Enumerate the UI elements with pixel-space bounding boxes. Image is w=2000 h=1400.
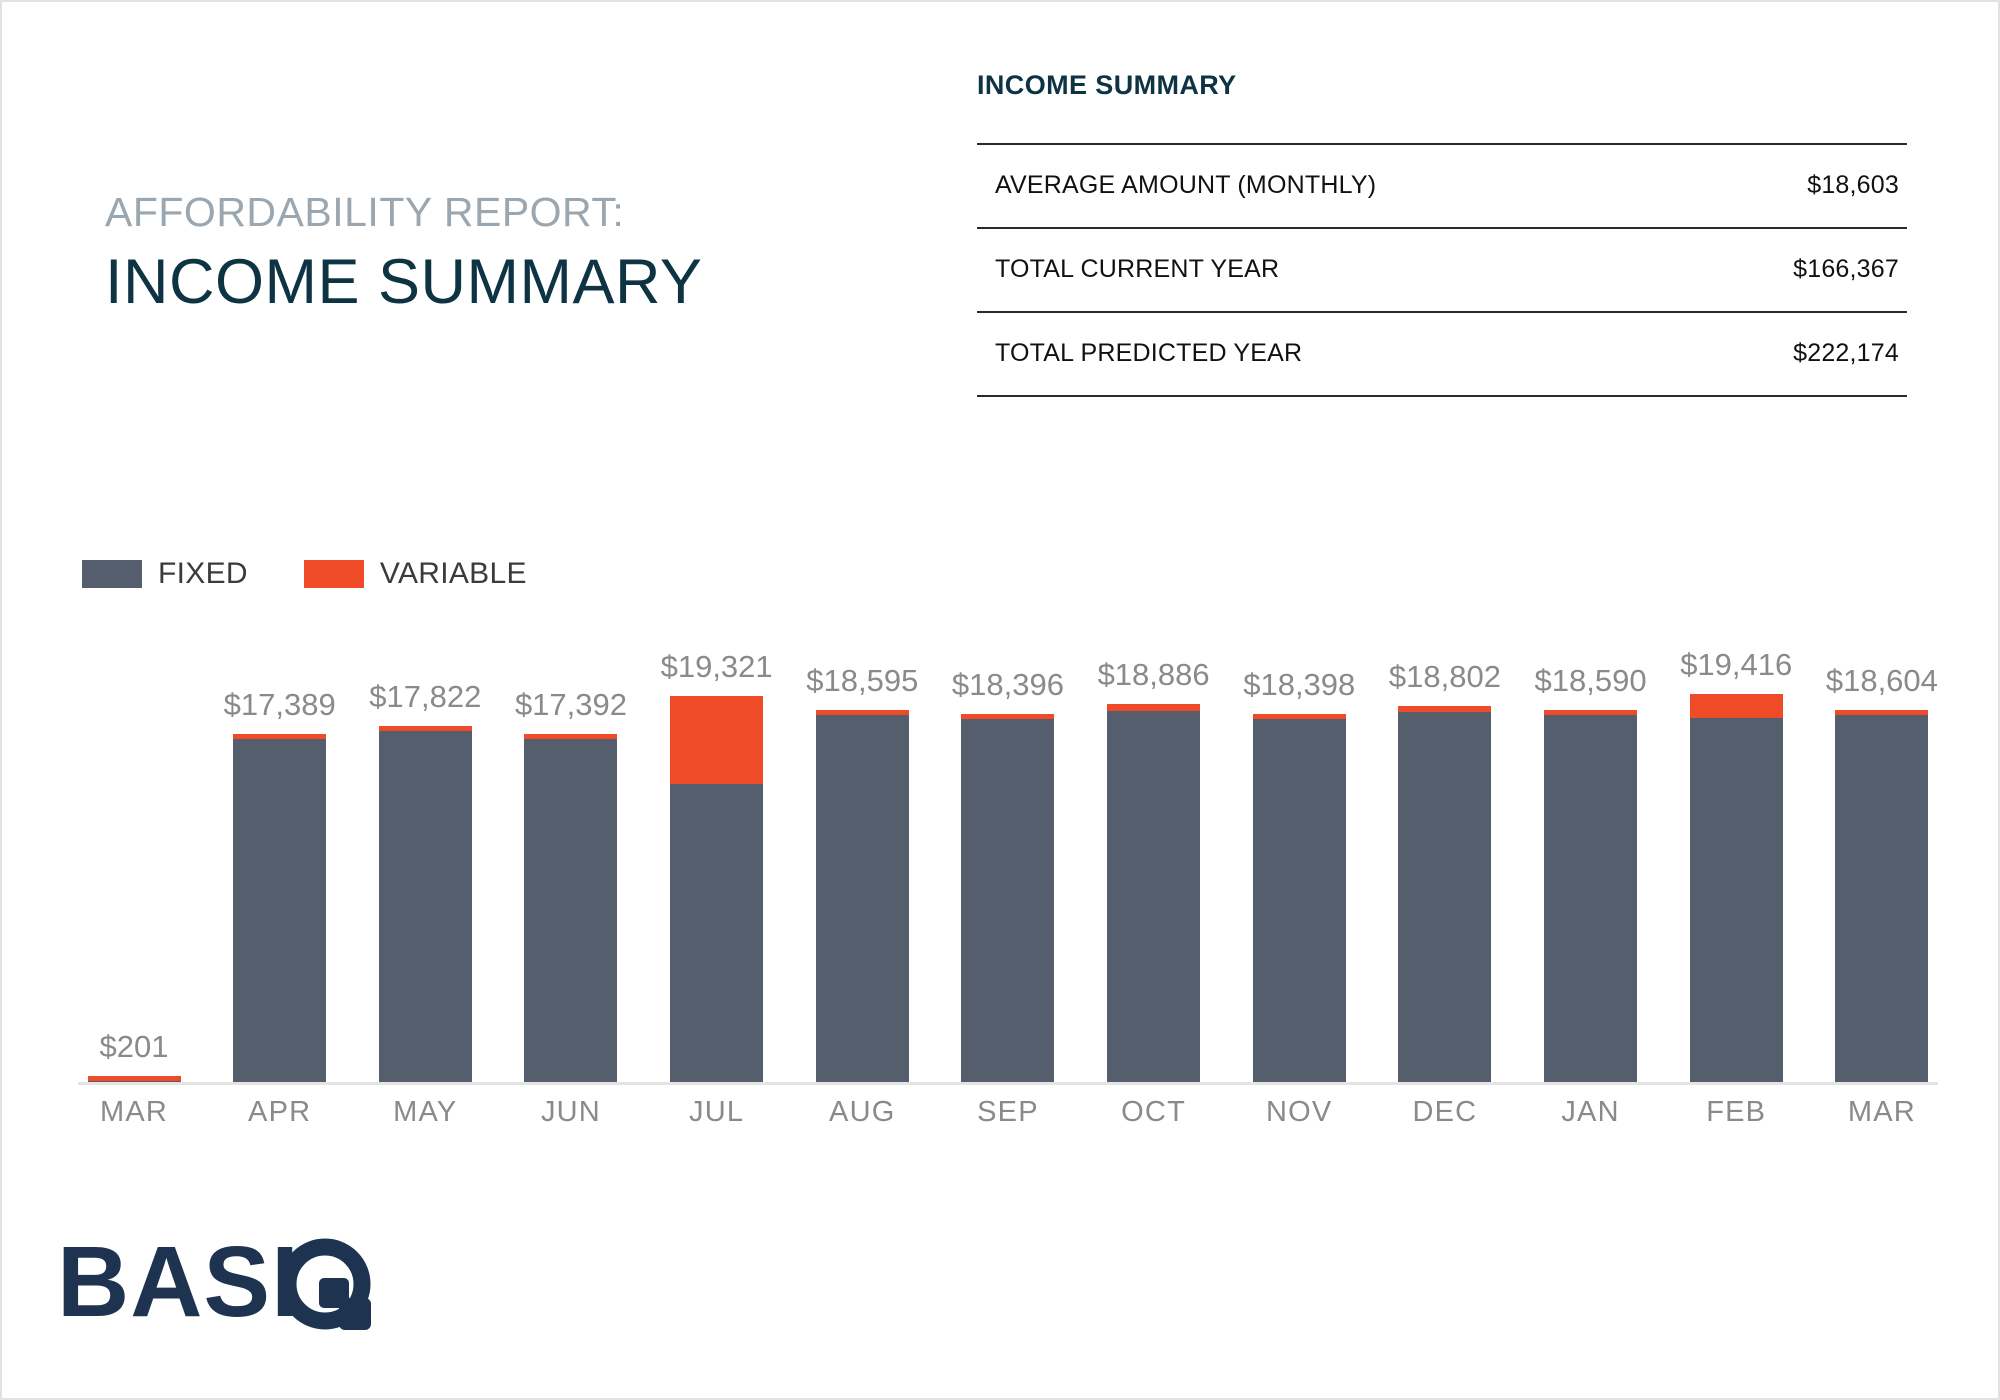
chart-column: $17,389 bbox=[224, 632, 336, 1082]
bar-value-label: $17,392 bbox=[466, 689, 676, 720]
chart-column: $17,392 bbox=[515, 632, 627, 1082]
x-axis-label: JUL bbox=[661, 1096, 773, 1129]
bar-segment-variable bbox=[1107, 704, 1200, 711]
summary-row-label: TOTAL CURRENT YEAR bbox=[977, 228, 1679, 312]
stacked-bar[interactable] bbox=[1253, 714, 1346, 1082]
x-axis-label: AUG bbox=[806, 1096, 918, 1129]
income-bar-chart: $201$17,389$17,822$17,392$19,321$18,595$… bbox=[78, 632, 1938, 1082]
fixed-swatch-icon bbox=[82, 560, 142, 588]
legend-label-fixed: FIXED bbox=[158, 557, 248, 591]
stacked-bar[interactable] bbox=[524, 734, 617, 1082]
stacked-bar[interactable] bbox=[1544, 710, 1637, 1082]
stacked-bar[interactable] bbox=[961, 714, 1054, 1082]
chart-column: $18,398 bbox=[1243, 632, 1355, 1082]
stacked-bar[interactable] bbox=[816, 710, 909, 1082]
summary-row: TOTAL CURRENT YEAR$166,367 bbox=[977, 228, 1907, 312]
basiq-logo: BASI bbox=[57, 1230, 387, 1340]
chart-column: $18,886 bbox=[1098, 632, 1210, 1082]
x-axis-label: MAR bbox=[78, 1096, 190, 1129]
bar-segment-fixed bbox=[1544, 715, 1637, 1082]
x-axis-label: NOV bbox=[1243, 1096, 1355, 1129]
bar-segment-fixed bbox=[1253, 719, 1346, 1082]
title-block: AFFORDABILITY REPORT: INCOME SUMMARY bbox=[105, 192, 702, 319]
summary-row-value: $222,174 bbox=[1679, 312, 1907, 396]
chart-column: $17,822 bbox=[369, 632, 481, 1082]
x-axis-label: JUN bbox=[515, 1096, 627, 1129]
legend-label-variable: VARIABLE bbox=[380, 557, 527, 591]
bar-segment-variable bbox=[670, 696, 763, 784]
basiq-logo-icon: BASI bbox=[57, 1230, 387, 1340]
report-page: AFFORDABILITY REPORT: INCOME SUMMARY INC… bbox=[0, 0, 2000, 1400]
bar-segment-fixed bbox=[233, 739, 326, 1082]
stacked-bar[interactable] bbox=[1690, 694, 1783, 1082]
x-axis-label: FEB bbox=[1680, 1096, 1792, 1129]
svg-text:BASI: BASI bbox=[57, 1230, 300, 1338]
summary-table: AVERAGE AMOUNT (MONTHLY)$18,603TOTAL CUR… bbox=[977, 143, 1907, 397]
stacked-bar[interactable] bbox=[233, 734, 326, 1082]
page-title: INCOME SUMMARY bbox=[105, 245, 702, 319]
chart-column: $19,321 bbox=[661, 632, 773, 1082]
bar-value-label: $201 bbox=[29, 1031, 239, 1062]
stacked-bar[interactable] bbox=[379, 726, 472, 1082]
x-axis-line bbox=[78, 1082, 1938, 1085]
chart-column: $201 bbox=[78, 632, 190, 1082]
bar-segment-fixed bbox=[524, 739, 617, 1082]
summary-heading: INCOME SUMMARY bbox=[977, 72, 1907, 99]
income-summary-panel: INCOME SUMMARY AVERAGE AMOUNT (MONTHLY)$… bbox=[977, 72, 1907, 397]
x-axis-label: MAY bbox=[369, 1096, 481, 1129]
bar-segment-fixed bbox=[1398, 712, 1491, 1082]
summary-row: AVERAGE AMOUNT (MONTHLY)$18,603 bbox=[977, 144, 1907, 228]
stacked-bar[interactable] bbox=[1835, 710, 1928, 1082]
legend-item-variable[interactable]: VARIABLE bbox=[304, 557, 527, 591]
x-axis-label: MAR bbox=[1826, 1096, 1938, 1129]
summary-row: TOTAL PREDICTED YEAR$222,174 bbox=[977, 312, 1907, 396]
x-axis-label: SEP bbox=[952, 1096, 1064, 1129]
bar-segment-fixed bbox=[379, 731, 472, 1082]
chart-column: $19,416 bbox=[1680, 632, 1792, 1082]
summary-row-value: $166,367 bbox=[1679, 228, 1907, 312]
x-axis-label: OCT bbox=[1098, 1096, 1210, 1129]
bar-segment-variable bbox=[1690, 694, 1783, 718]
x-axis-label: JAN bbox=[1535, 1096, 1647, 1129]
stacked-bar[interactable] bbox=[670, 696, 763, 1082]
x-axis-labels: MARAPRMAYJUNJULAUGSEPOCTNOVDECJANFEBMAR bbox=[78, 1096, 1938, 1129]
x-axis-label: APR bbox=[224, 1096, 336, 1129]
bar-value-label: $18,604 bbox=[1777, 665, 1987, 696]
chart-column: $18,604 bbox=[1826, 632, 1938, 1082]
x-axis-label: DEC bbox=[1389, 1096, 1501, 1129]
chart-column: $18,802 bbox=[1389, 632, 1501, 1082]
legend-item-fixed[interactable]: FIXED bbox=[82, 557, 248, 591]
stacked-bar[interactable] bbox=[1398, 706, 1491, 1082]
summary-row-label: AVERAGE AMOUNT (MONTHLY) bbox=[977, 144, 1679, 228]
bar-segment-fixed bbox=[1690, 718, 1783, 1082]
bar-segment-fixed bbox=[816, 715, 909, 1082]
chart-plot-area: $201$17,389$17,822$17,392$19,321$18,595$… bbox=[78, 632, 1938, 1082]
report-subtitle: AFFORDABILITY REPORT: bbox=[105, 192, 702, 233]
chart-column: $18,396 bbox=[952, 632, 1064, 1082]
chart-column: $18,590 bbox=[1535, 632, 1647, 1082]
bar-segment-fixed bbox=[1107, 711, 1200, 1082]
bar-segment-fixed bbox=[1835, 715, 1928, 1082]
summary-row-label: TOTAL PREDICTED YEAR bbox=[977, 312, 1679, 396]
bar-segment-fixed bbox=[670, 784, 763, 1082]
chart-column: $18,595 bbox=[806, 632, 918, 1082]
bar-segment-fixed bbox=[961, 719, 1054, 1082]
chart-legend: FIXED VARIABLE bbox=[82, 557, 527, 591]
summary-row-value: $18,603 bbox=[1679, 144, 1907, 228]
variable-swatch-icon bbox=[304, 560, 364, 588]
stacked-bar[interactable] bbox=[1107, 704, 1200, 1082]
